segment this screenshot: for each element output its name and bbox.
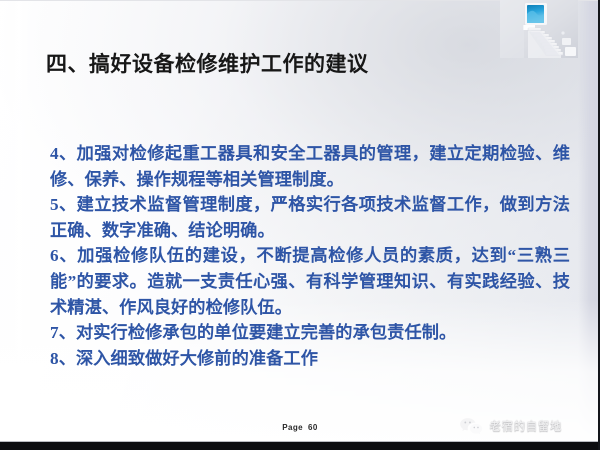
white-staircase-photo	[500, 0, 578, 58]
body-paragraph-8: 8、深入细致做好大修前的准备工作	[50, 346, 570, 372]
watermark-account-name: 老宿的自留地	[489, 418, 562, 434]
slide-bottom-bar	[0, 442, 600, 450]
body-paragraph-6: 6、加强检修队伍的建设，不断提高检修人员的素质，达到“三熟三能”的要求。造就一支…	[50, 243, 570, 320]
page-number-value: 60	[308, 423, 318, 432]
wechat-icon	[459, 416, 483, 436]
slide-canvas: 四、搞好设备检修维护工作的建议 4、加强对检修起重工器具和安全工器具的管理，建立…	[0, 0, 600, 450]
body-paragraph-5: 5、建立技术监督管理制度，严格实行各项技术监督工作，做到方法正确、数字准确、结论…	[50, 192, 570, 243]
slide-title: 四、搞好设备检修维护工作的建议	[46, 48, 369, 78]
body-paragraph-4: 4、加强对检修起重工器具和安全工器具的管理，建立定期检验、维修、保养、操作规程等…	[50, 141, 570, 192]
slide-body: 4、加强对检修起重工器具和安全工器具的管理，建立定期检验、维修、保养、操作规程等…	[50, 141, 570, 371]
page-number-label: Page	[282, 423, 303, 432]
body-paragraph-7: 7、对实行检修承包的单位要建立完善的承包责任制。	[50, 320, 570, 346]
watermark: 老宿的自留地	[459, 416, 562, 436]
